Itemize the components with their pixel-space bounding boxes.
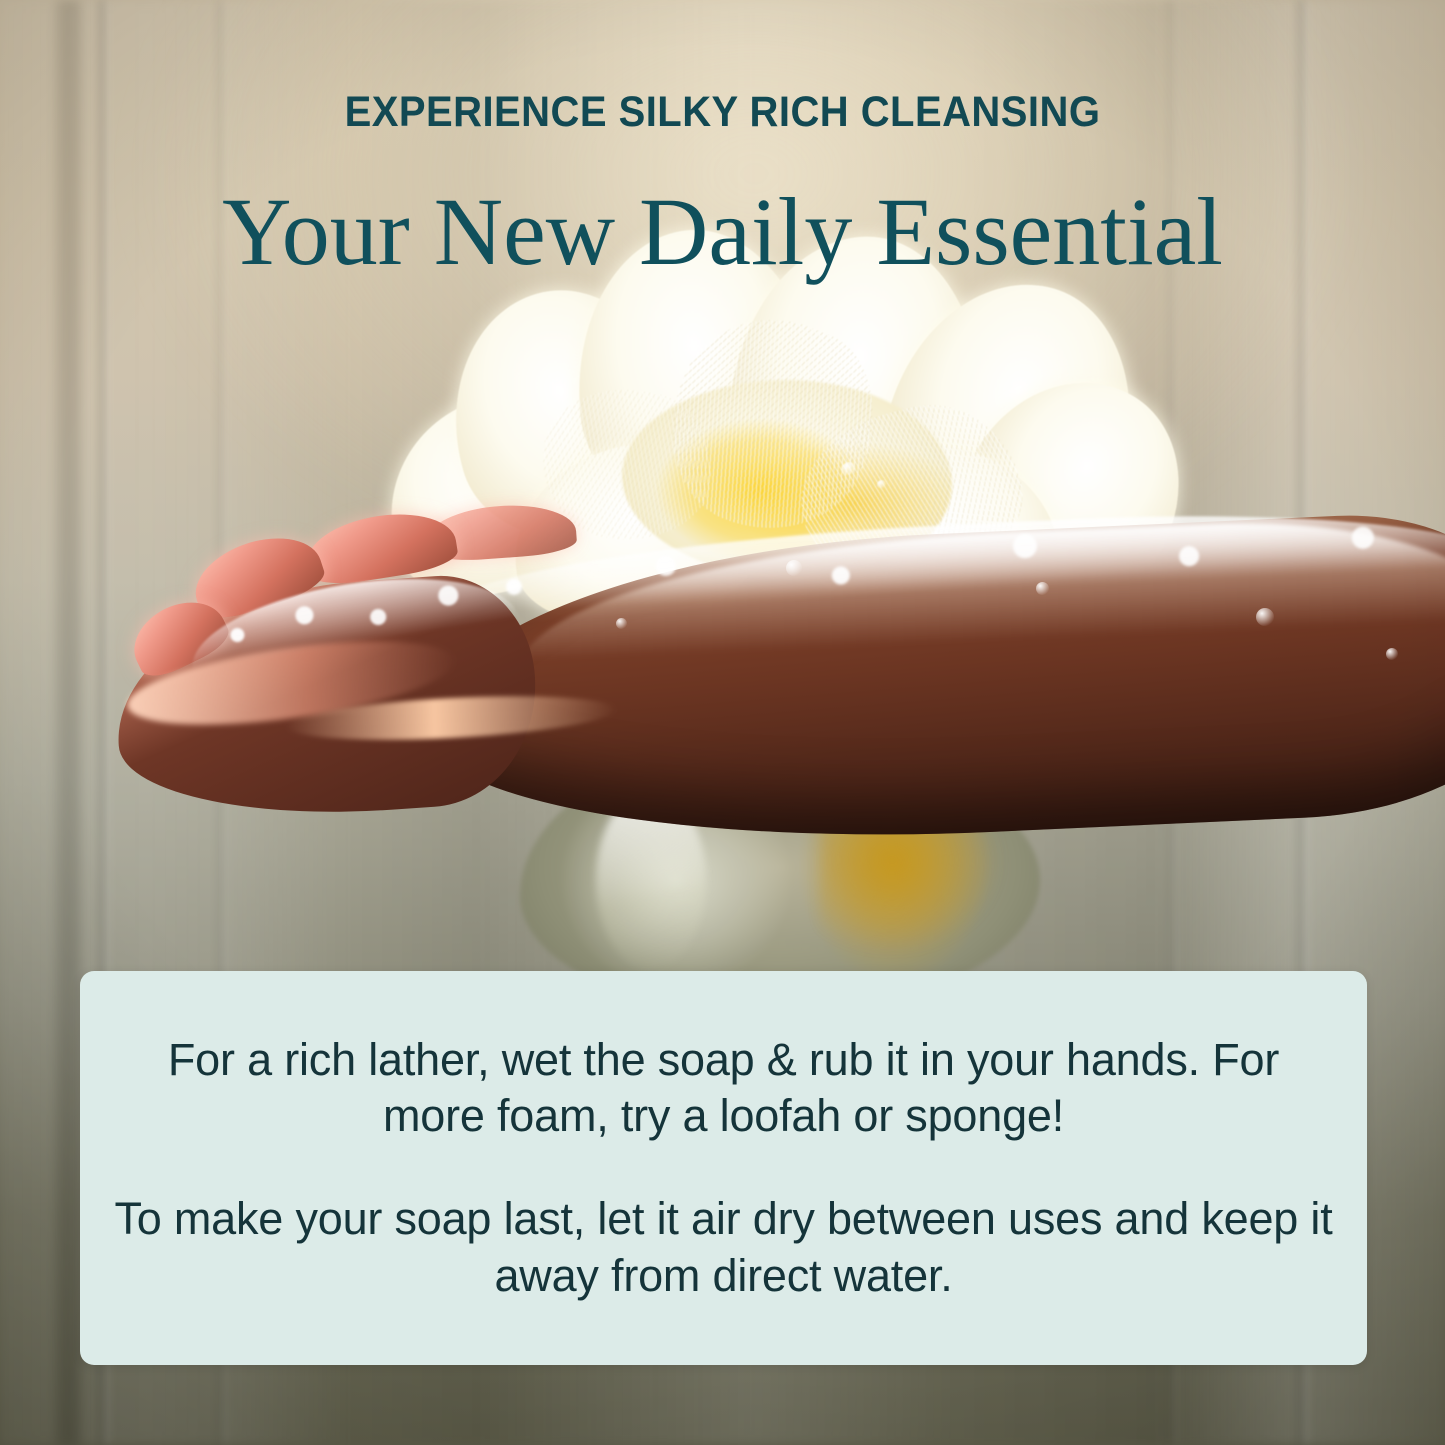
tip-paragraph-lather: For a rich lather, wet the soap & rub it… — [114, 1032, 1333, 1145]
product-lifestyle-banner: EXPERIENCE SILKY RICH CLEANSING Your New… — [0, 0, 1445, 1445]
eyebrow-text: EXPERIENCE SILKY RICH CLEANSING — [51, 88, 1395, 137]
usage-tips-card: For a rich lather, wet the soap & rub it… — [80, 971, 1367, 1365]
page-title: Your New Daily Essential — [0, 176, 1445, 287]
lathered-forearm — [96, 498, 1445, 898]
tip-paragraph-care: To make your soap last, let it air dry b… — [114, 1191, 1333, 1304]
